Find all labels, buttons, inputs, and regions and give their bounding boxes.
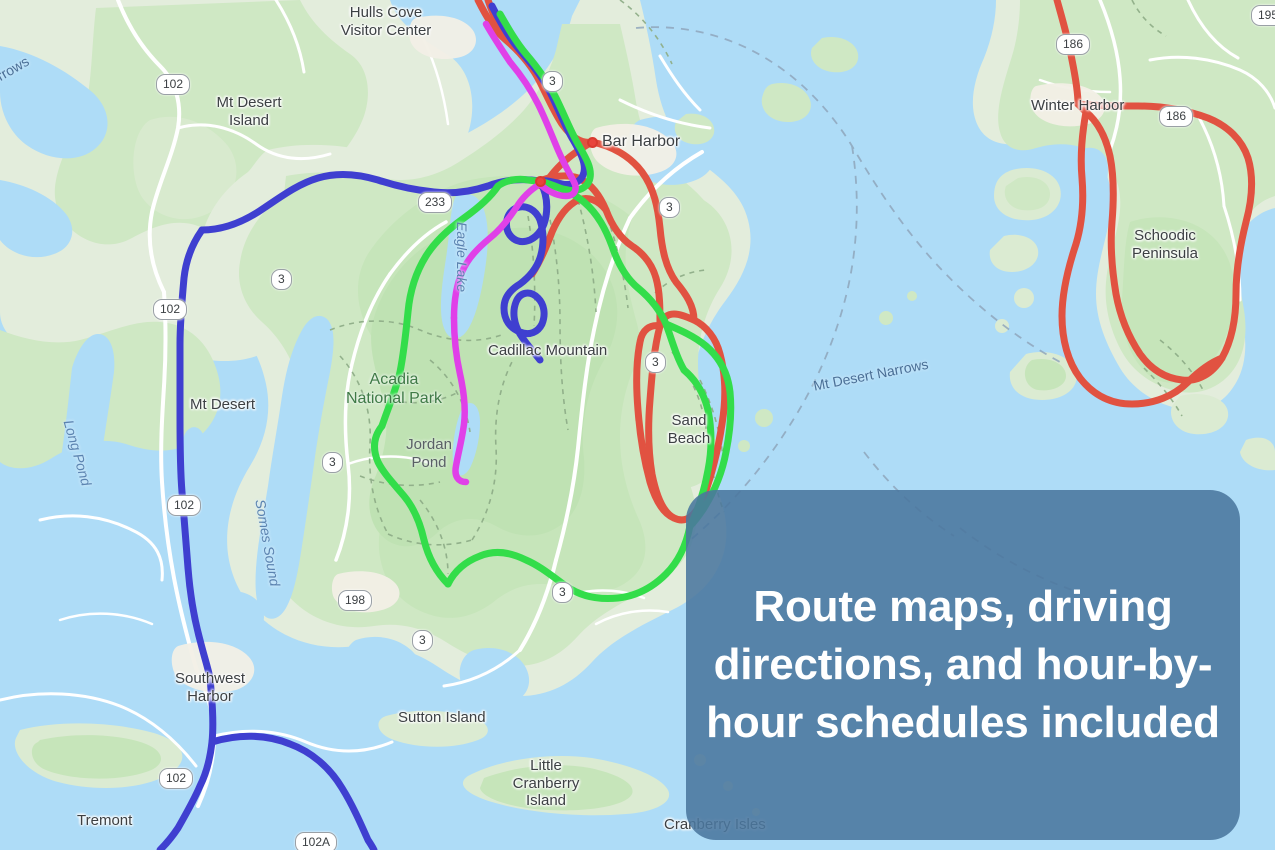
shield-102-tremont: 102 [159, 768, 193, 789]
marker-bar-harbor[interactable] [587, 137, 598, 148]
shield-186-north: 186 [1056, 34, 1090, 55]
shield-195: 195 [1251, 5, 1275, 26]
marker-junction-south[interactable] [535, 176, 546, 187]
shield-198: 198 [338, 590, 372, 611]
shield-3-acadia: 3 [322, 452, 343, 473]
shield-3-hullscove: 3 [542, 71, 563, 92]
promo-overlay: Route maps, driving directions, and hour… [686, 490, 1240, 840]
shield-102-mtdesert: 102 [153, 299, 187, 320]
map-screenshot: Hulls Cove Visitor Center Mt Desert Isla… [0, 0, 1275, 850]
shield-3-south: 3 [552, 582, 573, 603]
shield-233: 233 [418, 192, 452, 213]
route-red-path [478, 0, 1252, 520]
shield-102a: 102A [295, 832, 337, 850]
promo-overlay-text: Route maps, driving directions, and hour… [686, 578, 1240, 752]
shield-3-sandbeach: 3 [645, 352, 666, 373]
shield-3-west: 3 [271, 269, 292, 290]
shield-102-sw: 102 [167, 495, 201, 516]
shield-3-barharbor: 3 [659, 197, 680, 218]
route-blue-path [160, 6, 584, 850]
shield-102-north: 102 [156, 74, 190, 95]
shield-186-east: 186 [1159, 106, 1193, 127]
shield-3-somesville: 3 [412, 630, 433, 651]
route-magenta-path [454, 24, 576, 482]
